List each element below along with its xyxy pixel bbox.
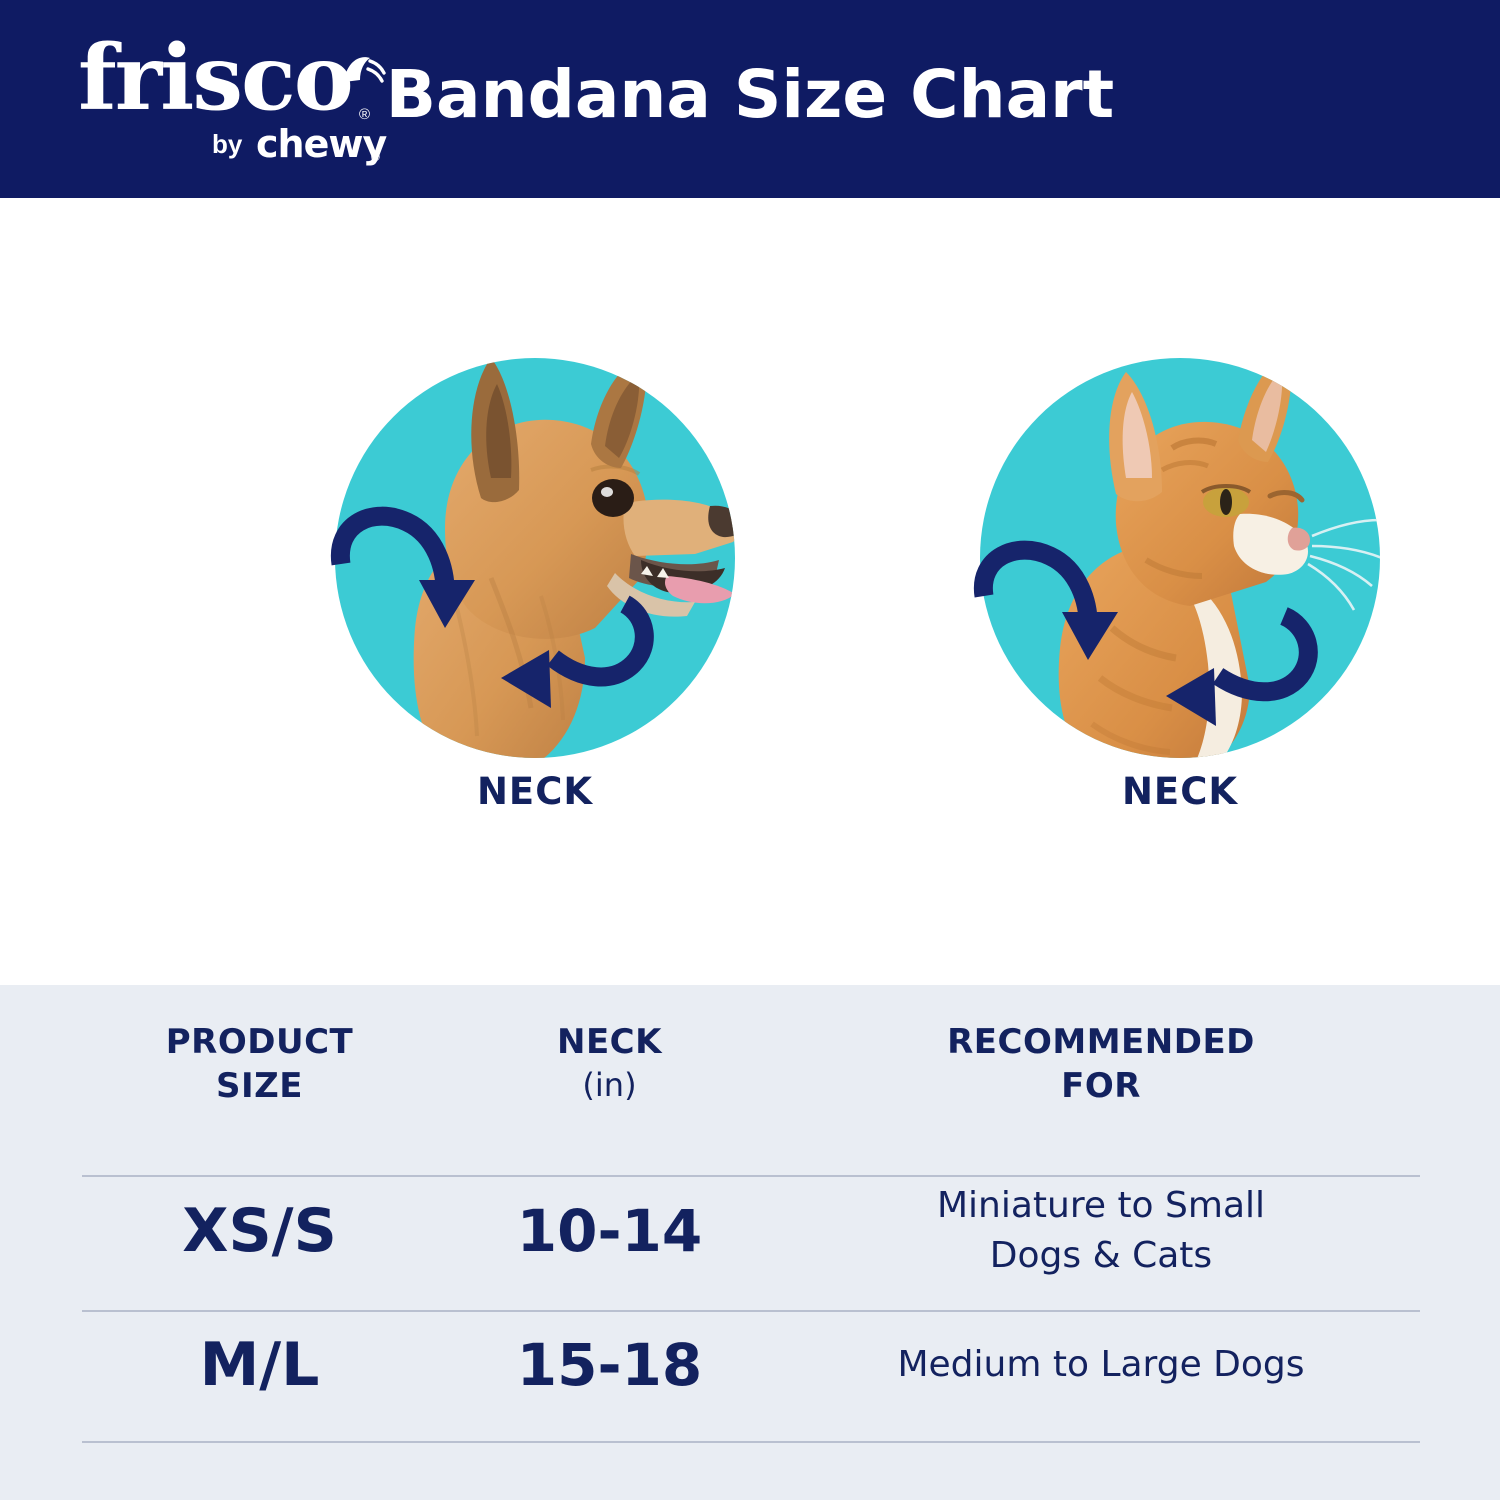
cell-neck-range: 15-18 [437, 1332, 782, 1398]
page-title: Bandana Size Chart [0, 56, 1500, 133]
page-header: frisco ® by chewy ® Bandana Size Chart [0, 0, 1500, 198]
table-divider [82, 1175, 1420, 1177]
cell-product-size: XS/S [82, 1197, 437, 1265]
dog-photo [295, 328, 775, 798]
cat-illustration-block: NECK [940, 358, 1420, 878]
cell-neck-range: 10-14 [437, 1198, 782, 1264]
cell-recommended-for: Medium to Large Dogs [782, 1340, 1420, 1390]
cat-photo [940, 328, 1420, 798]
size-chart-page: frisco ® by chewy ® Bandana Size Chart [0, 0, 1500, 1500]
dog-neck-label: NECK [295, 770, 775, 813]
illustration-section: NECK [0, 198, 1500, 985]
cell-product-size: M/L [82, 1331, 437, 1399]
brand-by-label: by [212, 129, 242, 160]
column-header-product-size: PRODUCT SIZE [82, 1020, 437, 1108]
table-row: M/L 15-18 Medium to Large Dogs [82, 1301, 1420, 1428]
table-divider [82, 1441, 1420, 1443]
column-header-recommended-for: RECOMMENDED FOR [782, 1020, 1420, 1108]
brand-chewy-registered-mark: ® [371, 150, 380, 164]
table-divider [82, 1310, 1420, 1312]
table-row: XS/S 10-14 Miniature to Small Dogs & Cat… [82, 1167, 1420, 1294]
size-table: PRODUCT SIZE NECK (in) RECOMMENDED FOR X… [82, 985, 1420, 1500]
cell-recommended-for: Miniature to Small Dogs & Cats [782, 1181, 1420, 1281]
dog-illustration-block: NECK [295, 358, 775, 878]
size-table-panel: PRODUCT SIZE NECK (in) RECOMMENDED FOR X… [0, 985, 1500, 1500]
cat-neck-label: NECK [940, 770, 1420, 813]
column-header-neck: NECK (in) [437, 1020, 782, 1106]
table-header-row: PRODUCT SIZE NECK (in) RECOMMENDED FOR [82, 1020, 1420, 1150]
